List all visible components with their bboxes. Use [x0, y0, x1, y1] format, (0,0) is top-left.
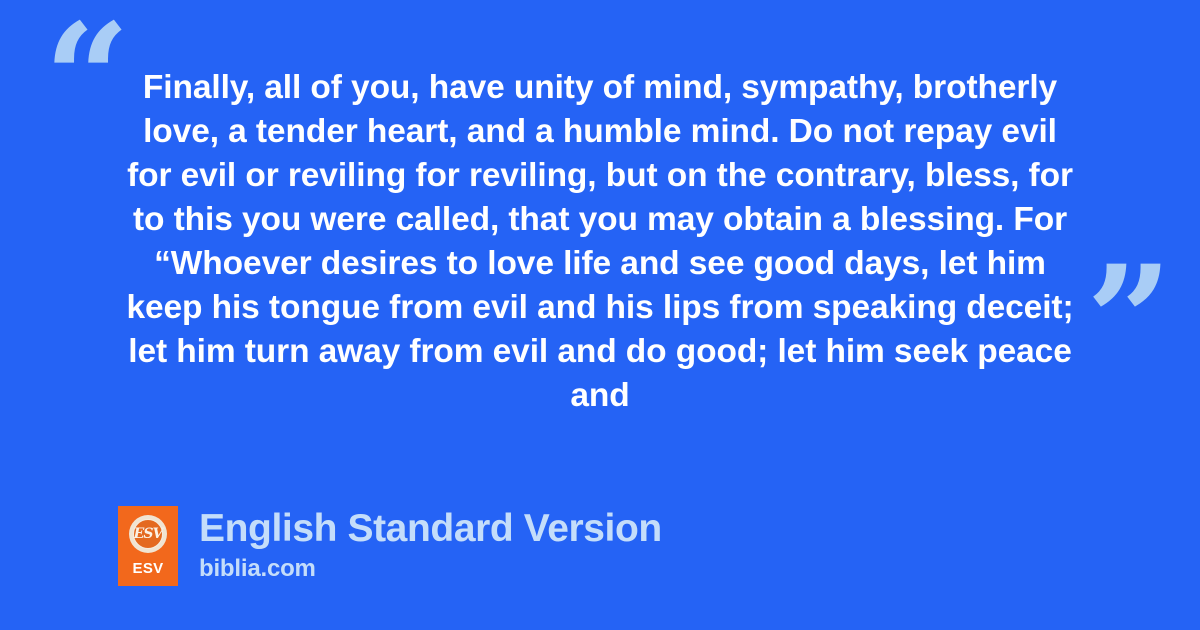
- esv-seal-icon: ESV: [129, 515, 167, 553]
- esv-monogram: ESV: [134, 527, 163, 541]
- site-url-label: biblia.com: [199, 554, 662, 584]
- closing-quote-mark-icon: ”: [1086, 246, 1170, 396]
- attribution-footer: ESV ESV English Standard Version biblia.…: [118, 506, 662, 586]
- esv-abbreviation-label: ESV: [118, 560, 178, 577]
- esv-seal-inner-icon: ESV: [133, 519, 163, 549]
- esv-logo: ESV ESV: [118, 506, 178, 586]
- verse-text: Finally, all of you, have unity of mind,…: [100, 66, 1100, 418]
- attribution-text-group: English Standard Version biblia.com: [199, 506, 662, 584]
- bible-verse-card: “ Finally, all of you, have unity of min…: [0, 0, 1200, 630]
- bible-version-name: English Standard Version: [199, 506, 662, 552]
